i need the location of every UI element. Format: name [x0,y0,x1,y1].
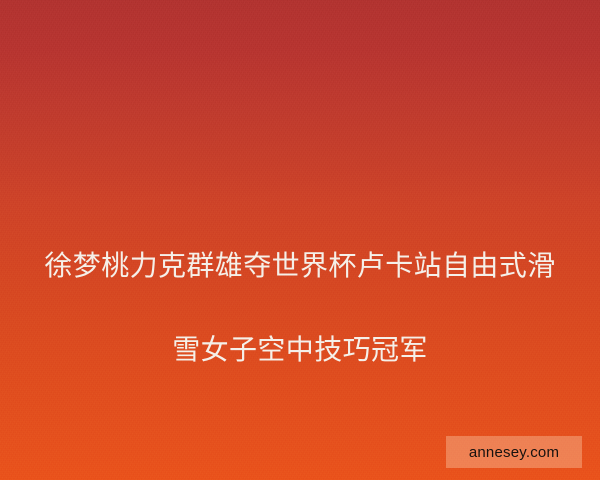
image-canvas: 徐梦桃力克群雄夺世界杯卢卡站自由式滑 雪女子空中技巧冠军 annesey.com [0,0,600,480]
headline-line-1: 徐梦桃力克群雄夺世界杯卢卡站自由式滑 [44,249,555,282]
headline-line-2: 雪女子空中技巧冠军 [172,333,428,366]
watermark-badge: annesey.com [446,436,582,468]
watermark-label: annesey.com [469,444,559,461]
headline-title: 徐梦桃力克群雄夺世界杯卢卡站自由式滑 雪女子空中技巧冠军 [0,203,600,371]
